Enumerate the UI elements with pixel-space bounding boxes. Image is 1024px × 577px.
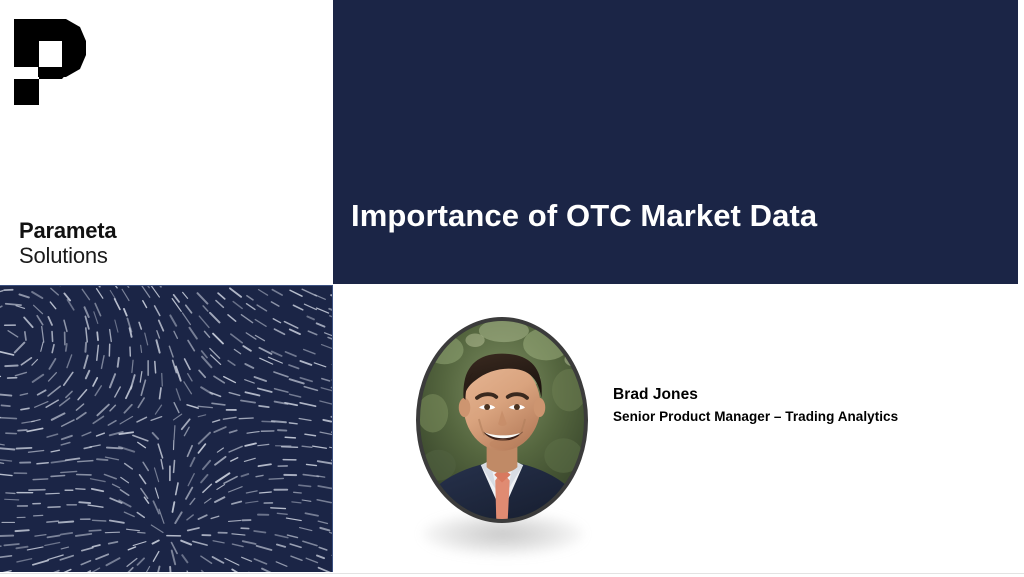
bottom-edge-rule — [0, 573, 1024, 577]
right-edge-margin — [1018, 0, 1024, 284]
speaker-area: Brad Jones Senior Product Manager – Trad… — [333, 284, 1024, 577]
brand-wordmark-line-1: Parameta — [19, 220, 116, 242]
brand-panel: Parameta Solutions — [0, 0, 333, 284]
flow-field-dashes-icon — [0, 286, 333, 572]
speaker-details: Brad Jones Senior Product Manager – Trad… — [613, 385, 993, 426]
brand-wordmark-line-2: Solutions — [19, 245, 116, 267]
brand-wordmark: Parameta Solutions — [19, 220, 116, 267]
flow-field-pattern-panel — [0, 285, 333, 572]
page-title: Importance of OTC Market Data — [351, 198, 817, 234]
presentation-slide: Parameta Solutions Importance of OTC Mar… — [0, 0, 1024, 577]
title-band: Importance of OTC Market Data — [333, 0, 1019, 284]
avatar — [416, 317, 588, 523]
avatar-portrait — [416, 317, 588, 523]
speaker-role: Senior Product Manager – Trading Analyti… — [613, 408, 993, 426]
parameta-p-logo-icon — [14, 19, 90, 105]
speaker-name: Brad Jones — [613, 385, 993, 405]
